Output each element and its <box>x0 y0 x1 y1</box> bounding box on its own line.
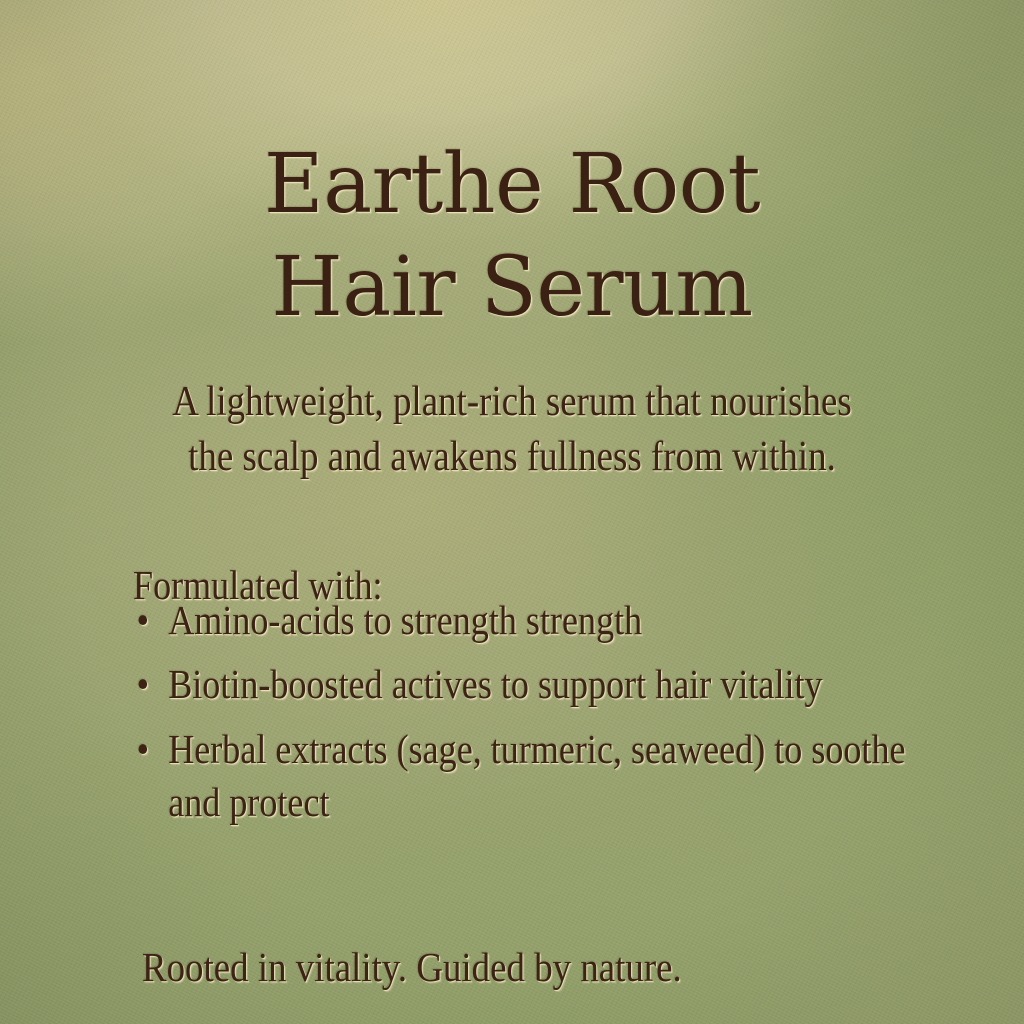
product-subtitle: A lightweight, plant-rich serum that nou… <box>160 375 864 484</box>
poster-content: Earthe Root Hair Serum A lightweight, pl… <box>0 0 1024 1024</box>
list-item-label: Amino-acids to strength strength <box>168 597 642 643</box>
list-item: • Amino-acids to strength strength <box>133 594 960 647</box>
list-item-label: Herbal extracts (sage, turmeric, seaweed… <box>168 726 905 825</box>
list-item-label: Biotin-boosted actives to support hair v… <box>168 661 822 707</box>
bullet-dot-icon: • <box>137 594 150 647</box>
product-title: Earthe Root Hair Serum <box>0 133 1024 340</box>
bullet-dot-icon: • <box>137 723 150 776</box>
product-title-line-1: Earthe Root <box>0 133 1024 236</box>
poster-canvas: Earthe Root Hair Serum A lightweight, pl… <box>0 0 1024 1024</box>
list-item: • Biotin-boosted actives to support hair… <box>133 658 960 711</box>
list-item: • Herbal extracts (sage, turmeric, seawe… <box>133 723 960 830</box>
bullet-dot-icon: • <box>137 658 150 711</box>
product-title-line-2: Hair Serum <box>0 236 1024 339</box>
brand-tagline: Rooted in vitality. Guided by nature. <box>142 943 682 992</box>
ingredient-list: • Amino-acids to strength strength • Bio… <box>133 594 960 840</box>
